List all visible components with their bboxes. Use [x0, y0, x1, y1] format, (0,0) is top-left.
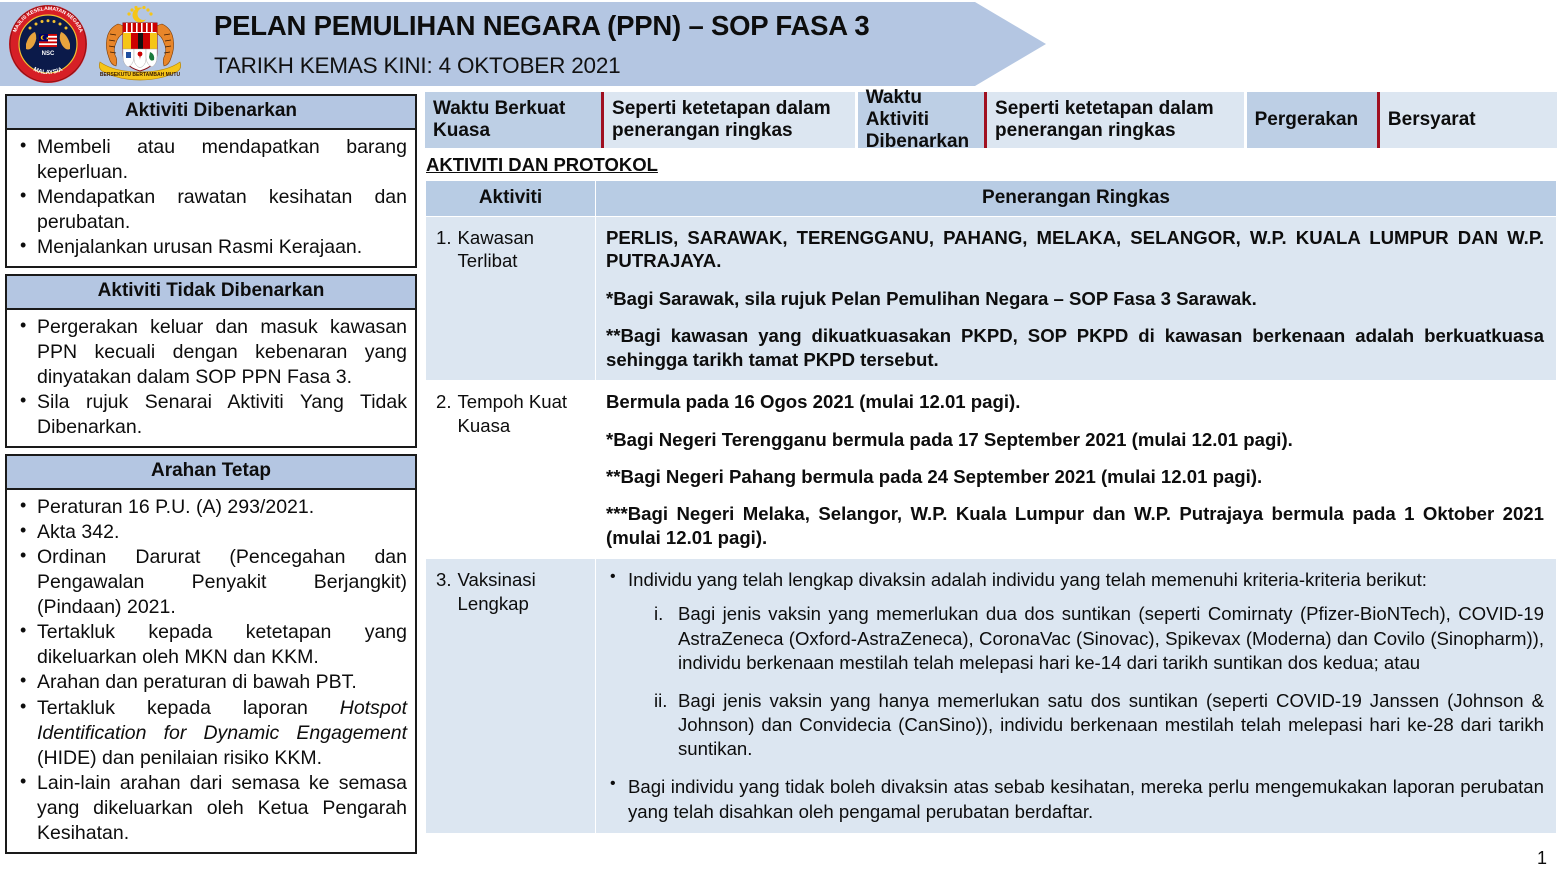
table-header-row: Aktiviti Penerangan Ringkas — [426, 181, 1557, 217]
description-bullet-list: Individu yang telah lengkap divaksin ada… — [606, 568, 1544, 824]
list-item: Peraturan 16 P.U. (A) 293/2021. — [13, 495, 407, 520]
table-header: Aktiviti Penerangan Ringkas — [426, 181, 1557, 217]
list-item: Membeli atau mendapatkan barang keperlua… — [13, 135, 407, 185]
page-title: PELAN PEMULIHAN NEGARA (PPN) – SOP FASA … — [214, 10, 869, 42]
table-row: 2. Tempoh Kuat Kuasa Bermula pada 16 Ogo… — [426, 381, 1557, 559]
list-item: Ordinan Darurat (Pencegahan dan Pengawal… — [13, 545, 407, 620]
page-subtitle: TARIKH KEMAS KINI: 4 OKTOBER 2021 — [214, 53, 620, 79]
row-description-cell: Bermula pada 16 Ogos 2021 (mulai 12.01 p… — [596, 381, 1557, 559]
roman-item: ii. Bagi jenis vaksin yang hanya memerlu… — [654, 689, 1544, 762]
meta-strip: Waktu Berkuat Kuasa Seperti ketetapan da… — [425, 92, 1557, 148]
column-header-aktiviti: Aktiviti — [426, 181, 596, 217]
table-body: 1. Kawasan Terlibat PERLIS, SARAWAK, TER… — [426, 217, 1557, 834]
mkn-center-text: NSC — [42, 51, 55, 57]
list-item-hide: Tertakluk kepada laporan Hotspot Identif… — [13, 696, 407, 771]
bullet-list: Peraturan 16 P.U. (A) 293/2021. Akta 342… — [13, 495, 407, 846]
malaysia-coat-of-arms-icon: BERSEKUTU BERTAMBAH MUTU — [88, 4, 192, 84]
panel-body: Membeli atau mendapatkan barang keperlua… — [5, 130, 417, 268]
roman-text: Bagi jenis vaksin yang memerlukan dua do… — [678, 603, 1544, 672]
row-activity-label: Vaksinasi Lengkap — [458, 568, 589, 615]
list-item: Menjalankan urusan Rasmi Kerajaan. — [13, 235, 407, 260]
panel-heading: Aktiviti Tidak Dibenarkan — [5, 274, 417, 310]
panel-body: Pergerakan keluar dan masuk kawasan PPN … — [5, 310, 417, 448]
paragraph: *Bagi Sarawak, sila rujuk Pelan Pemuliha… — [606, 287, 1544, 310]
list-item: Individu yang telah lengkap divaksin ada… — [606, 568, 1544, 761]
svg-text:★: ★ — [46, 36, 50, 41]
row-activity-label: Tempoh Kuat Kuasa — [458, 390, 589, 437]
column-header-penerangan-ringkas: Penerangan Ringkas — [596, 181, 1557, 217]
list-item: Pergerakan keluar dan masuk kawasan PPN … — [13, 315, 407, 390]
paragraph: PERLIS, SARAWAK, TERENGGANU, PAHANG, MEL… — [606, 226, 1544, 273]
meta-label-waktu-berkuat-kuasa: Waktu Berkuat Kuasa — [425, 92, 604, 148]
list-item: Mendapatkan rawatan kesihatan dan peruba… — [13, 185, 407, 235]
row-number: 1. — [436, 226, 452, 273]
hide-post: (HIDE) dan penilaian risiko KKM. — [37, 747, 322, 769]
slide-page: ★ NSC MAJLIS KESELAMATAN NEGARA MALAYSIA — [0, 0, 1557, 873]
bullet-text: Individu yang telah lengkap divaksin ada… — [628, 569, 1427, 590]
panel-body: Peraturan 16 P.U. (A) 293/2021. Akta 342… — [5, 490, 417, 854]
right-column: Waktu Berkuat Kuasa Seperti ketetapan da… — [425, 92, 1557, 834]
meta-value-waktu-berkuat-kuasa: Seperti ketetapan dalam penerangan ringk… — [604, 92, 855, 148]
roman-list: i. Bagi jenis vaksin yang memerlukan dua… — [654, 602, 1544, 761]
bullet-list: Membeli atau mendapatkan barang keperlua… — [13, 135, 407, 260]
page-number: 1 — [1537, 848, 1547, 869]
panel-aktiviti-dibenarkan: Aktiviti Dibenarkan Membeli atau mendapa… — [5, 94, 417, 268]
panel-heading: Aktiviti Dibenarkan — [5, 94, 417, 130]
meta-label-waktu-aktiviti-dibenarkan: Waktu Aktiviti Dibenarkan — [858, 92, 987, 148]
list-item: Sila rujuk Senarai Aktiviti Yang Tidak D… — [13, 390, 407, 440]
paragraph: ***Bagi Negeri Melaka, Selangor, W.P. Ku… — [606, 502, 1544, 549]
left-column: Aktiviti Dibenarkan Membeli atau mendapa… — [5, 94, 417, 860]
row-number: 3. — [436, 568, 452, 615]
paragraph: Bermula pada 16 Ogos 2021 (mulai 12.01 p… — [606, 390, 1544, 413]
table-row: 1. Kawasan Terlibat PERLIS, SARAWAK, TER… — [426, 217, 1557, 381]
row-activity-cell: 3. Vaksinasi Lengkap — [426, 559, 596, 834]
row-activity-cell: 1. Kawasan Terlibat — [426, 217, 596, 381]
row-activity-label: Kawasan Terlibat — [458, 226, 589, 273]
roman-item: i. Bagi jenis vaksin yang memerlukan dua… — [654, 602, 1544, 675]
section-title: AKTIVITI DAN PROTOKOL — [426, 154, 658, 176]
panel-aktiviti-tidak-dibenarkan: Aktiviti Tidak Dibenarkan Pergerakan kel… — [5, 274, 417, 448]
aktiviti-protokol-table: Aktiviti Penerangan Ringkas 1. Kawasan T… — [425, 180, 1557, 834]
roman-marker: i. — [654, 602, 663, 626]
list-item: Akta 342. — [13, 520, 407, 545]
row-number: 2. — [436, 390, 452, 437]
list-item: Lain-lain arahan dari semasa ke semasa y… — [13, 771, 407, 846]
hide-pre: Tertakluk kepada laporan — [37, 697, 340, 719]
list-item: Tertakluk kepada ketetapan yang dikeluar… — [13, 620, 407, 670]
svg-text:BERSEKUTU BERTAMBAH MUTU: BERSEKUTU BERTAMBAH MUTU — [100, 72, 181, 78]
paragraph: **Bagi kawasan yang dikuatkuasakan PKPD,… — [606, 324, 1544, 371]
panel-arahan-tetap: Arahan Tetap Peraturan 16 P.U. (A) 293/2… — [5, 454, 417, 854]
mkn-logo-icon: ★ NSC MAJLIS KESELAMATAN NEGARA MALAYSIA — [8, 4, 88, 84]
list-item: Bagi individu yang tidak boleh divaksin … — [606, 775, 1544, 823]
panel-heading: Arahan Tetap — [5, 454, 417, 490]
paragraph: **Bagi Negeri Pahang bermula pada 24 Sep… — [606, 465, 1544, 488]
bullet-list: Pergerakan keluar dan masuk kawasan PPN … — [13, 315, 407, 440]
list-item: Arahan dan peraturan di bawah PBT. — [13, 670, 407, 695]
meta-value-pergerakan: Bersyarat — [1380, 92, 1557, 148]
roman-marker: ii. — [654, 689, 667, 713]
page-header: ★ NSC MAJLIS KESELAMATAN NEGARA MALAYSIA — [0, 0, 1557, 88]
meta-value-waktu-aktiviti-dibenarkan: Seperti ketetapan dalam penerangan ringk… — [987, 92, 1244, 148]
table-row: 3. Vaksinasi Lengkap Individu yang telah… — [426, 559, 1557, 834]
roman-text: Bagi jenis vaksin yang hanya memerlukan … — [678, 690, 1544, 759]
row-activity-cell: 2. Tempoh Kuat Kuasa — [426, 381, 596, 559]
meta-label-pergerakan: Pergerakan — [1247, 92, 1380, 148]
row-description-cell: PERLIS, SARAWAK, TERENGGANU, PAHANG, MEL… — [596, 217, 1557, 381]
row-description-cell: Individu yang telah lengkap divaksin ada… — [596, 559, 1557, 834]
paragraph: *Bagi Negeri Terengganu bermula pada 17 … — [606, 428, 1544, 451]
